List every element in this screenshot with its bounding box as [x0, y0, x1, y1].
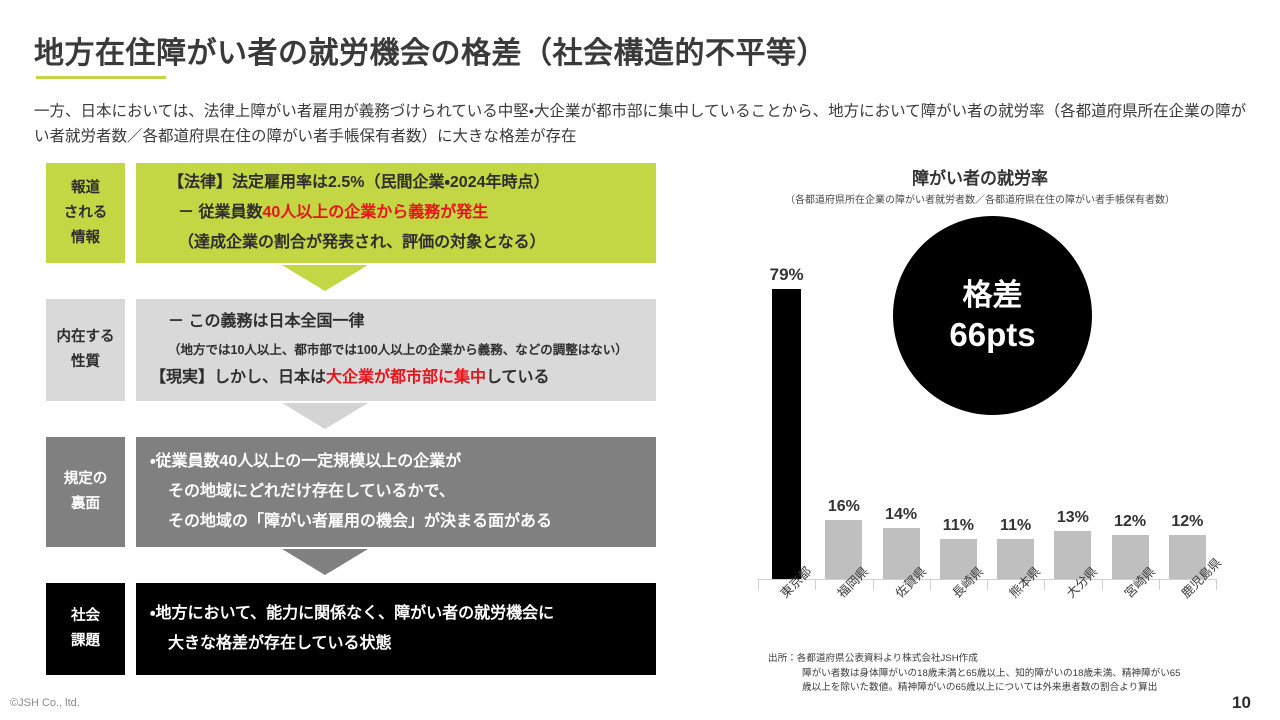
chart-bar-column: 12%	[1102, 249, 1159, 579]
chart-bar-value-label: 12%	[1171, 513, 1203, 531]
employment-rate-chart: 障がい者の就労率 （各都道府県所在企業の障がい者就労者数／各都道府県在住の障がい…	[700, 160, 1260, 700]
source-line-3: 歳以上を除いた数値。精神障がいの65歳以上については外来患者数の割合より算出	[768, 681, 1238, 696]
flow-text-line: ・従業員数40人以上の一定規模以上の企業が	[150, 447, 642, 477]
flow-text-emphasis: 大企業が都市部に集中	[326, 369, 486, 386]
flow-text-line: ・地方において、能力に関係なく、障がい者の就労機会に	[150, 599, 642, 629]
chart-bar	[772, 289, 801, 579]
page-number: 10	[1232, 693, 1251, 713]
gap-callout-bubble: 格差 66pts	[893, 216, 1092, 415]
chart-bar-value-label: 11%	[1000, 517, 1031, 535]
chart-x-tick-labels: 東京都福岡県佐賀県長崎県熊本県大分県宮崎県鹿児島県	[758, 588, 1216, 658]
bubble-line-2: 66pts	[949, 315, 1035, 355]
chevron-down-icon	[282, 265, 368, 291]
chart-bar-value-label: 12%	[1114, 513, 1146, 531]
chart-bar-value-label: 13%	[1057, 509, 1089, 527]
flow-row-body-inherent-nature: － この義務は日本全国一律 （地方では10人以上、都市部では100人以上の企業か…	[136, 299, 656, 401]
flow-row-inherent-nature: 内在する 性質 － この義務は日本全国一律 （地方では10人以上、都市部では10…	[46, 299, 656, 401]
flow-diagram: 報道 される 情報 【法律】法定雇用率は2.5%（民間企業・2024年時点） －…	[46, 163, 656, 675]
flow-label-line: 裏面	[71, 492, 100, 517]
flow-text-line: （達成企業の割合が発表され、評価の対象となる）	[150, 228, 642, 258]
copyright-footer: ©JSH Co., ltd.	[10, 697, 80, 709]
flow-label-line: 情報	[71, 226, 100, 251]
source-line-2: 障がい者数は身体障がいの18歳未満と65歳以上、知的障がいの18歳未満、精神障が…	[768, 667, 1238, 682]
flow-text-line: － 従業員数40人以上の企業から義務が発生	[150, 198, 642, 228]
chart-bar-column: 79%	[758, 249, 815, 579]
flow-row-body-social-issue: ・地方において、能力に関係なく、障がい者の就労機会に 大きな格差が存在している状…	[136, 583, 656, 675]
lead-paragraph: 一方、日本においては、法律上障がい者雇用が義務づけられている中堅・大企業が都市部…	[34, 99, 1249, 149]
flow-label-line: 性質	[71, 350, 100, 375]
flow-row-report-info: 報道 される 情報 【法律】法定雇用率は2.5%（民間企業・2024年時点） －…	[46, 163, 656, 263]
flow-row-label-report-info: 報道 される 情報	[46, 163, 125, 263]
flow-row-label-social-issue: 社会 課題	[46, 583, 125, 675]
flow-label-line: 課題	[71, 629, 100, 654]
flow-label-line: される	[64, 201, 108, 226]
flow-row-social-issue: 社会 課題 ・地方において、能力に関係なく、障がい者の就労機会に 大きな格差が存…	[46, 583, 656, 675]
flow-label-line: 社会	[71, 604, 100, 629]
chart-bar-value-label: 79%	[770, 265, 804, 285]
flow-arrow-3	[46, 547, 656, 583]
flow-label-line: 報道	[71, 176, 100, 201]
flow-text-emphasis: 40人以上の企業から義務が発生	[262, 204, 488, 221]
flow-text-line: 【現実】しかし、日本は大企業が都市部に集中している	[150, 363, 642, 393]
flow-text-pre: － 従業員数	[178, 204, 262, 221]
bubble-line-1: 格差	[963, 277, 1023, 315]
chevron-down-icon	[282, 549, 368, 575]
flow-text-note: （地方では10人以上、都市部では100人以上の企業から義務、などの調整はない）	[150, 337, 642, 363]
chart-bar-value-label: 11%	[943, 517, 974, 535]
chart-bar-value-label: 16%	[828, 498, 860, 516]
flow-text-line: 大きな格差が存在している状態	[150, 629, 642, 659]
flow-row-label-regulation-backside: 規定の 裏面	[46, 437, 125, 547]
flow-row-regulation-backside: 規定の 裏面 ・従業員数40人以上の一定規模以上の企業が その地域にどれだけ存在…	[46, 437, 656, 547]
chart-tick	[1216, 579, 1217, 590]
flow-arrow-1	[46, 263, 656, 299]
chart-bar-column: 16%	[815, 249, 872, 579]
chart-title: 障がい者の就労率	[700, 164, 1260, 189]
chevron-down-icon	[282, 403, 368, 429]
source-note: 出所：各都道府県公表資料より株式会社JSH作成 障がい者数は身体障がいの18歳未…	[768, 652, 1238, 696]
flow-label-line: 内在する	[57, 325, 115, 350]
chart-bar-value-label: 14%	[885, 506, 917, 524]
slide: 地方在住障がい者の就労機会の格差（社会構造的不平等） 一方、日本においては、法律…	[0, 0, 1280, 720]
chart-subtitle: （各都道府県所在企業の障がい者就労者数／各都道府県在住の障がい者手帳保有者数）	[700, 191, 1260, 206]
flow-text-line: その地域にどれだけ存在しているかで、	[150, 477, 642, 507]
flow-arrow-2	[46, 401, 656, 437]
flow-text-line: 【法律】法定雇用率は2.5%（民間企業・2024年時点）	[150, 168, 642, 198]
flow-text-line: － この義務は日本全国一律	[150, 307, 642, 337]
chart-bar-column: 12%	[1159, 249, 1216, 579]
source-line-1: 出所：各都道府県公表資料より株式会社JSH作成	[768, 652, 1238, 667]
flow-text-line: その地域の「障がい者雇用の機会」が決まる面がある	[150, 507, 642, 537]
page-title: 地方在住障がい者の就労機会の格差（社会構造的不平等）	[34, 28, 827, 72]
flow-label-line: 規定の	[64, 467, 108, 492]
title-underline-rule	[36, 76, 166, 79]
flow-text-pre: 【現実】しかし、日本は	[150, 369, 326, 386]
chart-plot-area: 79%16%14%11%11%13%12%12% 東京都福岡県佐賀県長崎県熊本県…	[730, 216, 1230, 676]
flow-row-label-inherent-nature: 内在する 性質	[46, 299, 125, 401]
flow-row-body-regulation-backside: ・従業員数40人以上の一定規模以上の企業が その地域にどれだけ存在しているかで、…	[136, 437, 656, 547]
flow-text-post: している	[486, 369, 550, 386]
flow-row-body-report-info: 【法律】法定雇用率は2.5%（民間企業・2024年時点） － 従業員数40人以上…	[136, 163, 656, 263]
